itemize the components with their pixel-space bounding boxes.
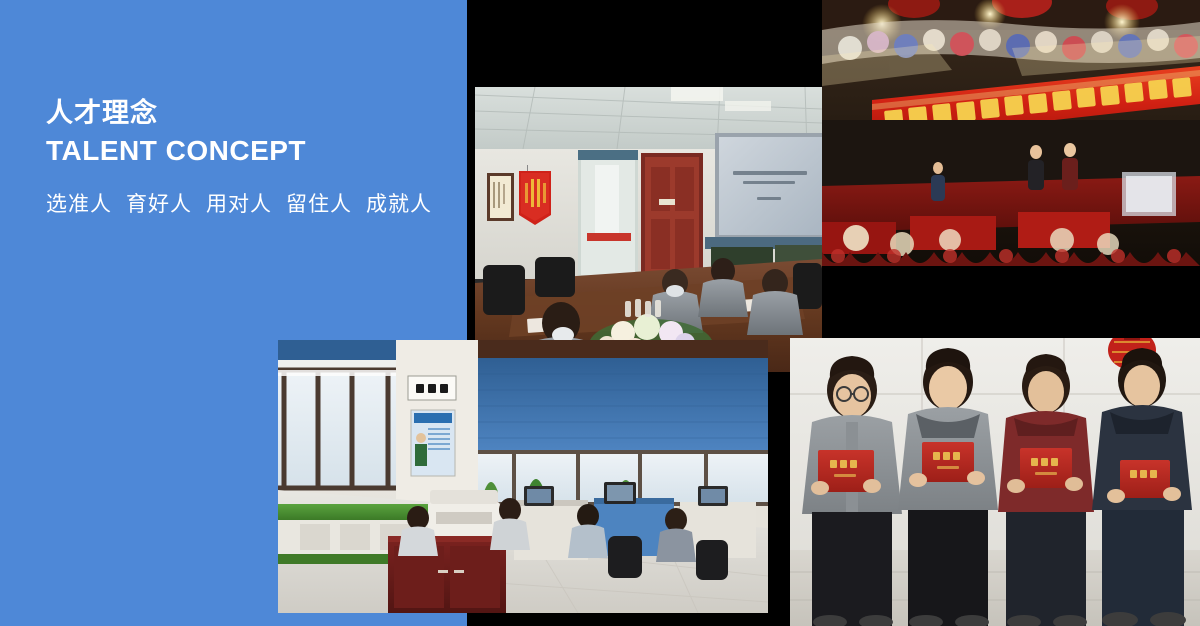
slogan-word-3: 用对人 (206, 193, 272, 216)
office-workspace-photo (278, 340, 768, 613)
page-title-cn: 人才理念 (46, 96, 446, 130)
slogan-word-1: 选准人 (46, 193, 112, 216)
slogan-word-5: 成就人 (366, 193, 432, 216)
anniversary-ceremony-photo (822, 0, 1200, 266)
blue-background-panel-lower (0, 340, 280, 626)
slogan-word-4: 留住人 (286, 193, 352, 216)
headline-block: 人才理念 TALENT CONCEPT 选准人育好人用对人留住人成就人 (46, 96, 446, 220)
slogan-word-2: 育好人 (126, 193, 192, 216)
award-ceremony-photo (790, 338, 1200, 626)
meeting-room-photo (475, 87, 822, 372)
page-title-en: TALENT CONCEPT (46, 134, 446, 168)
talent-concept-banner: 人才理念 TALENT CONCEPT 选准人育好人用对人留住人成就人 (0, 0, 1200, 626)
subtitle-slogan: 选准人育好人用对人留住人成就人 (46, 190, 446, 220)
